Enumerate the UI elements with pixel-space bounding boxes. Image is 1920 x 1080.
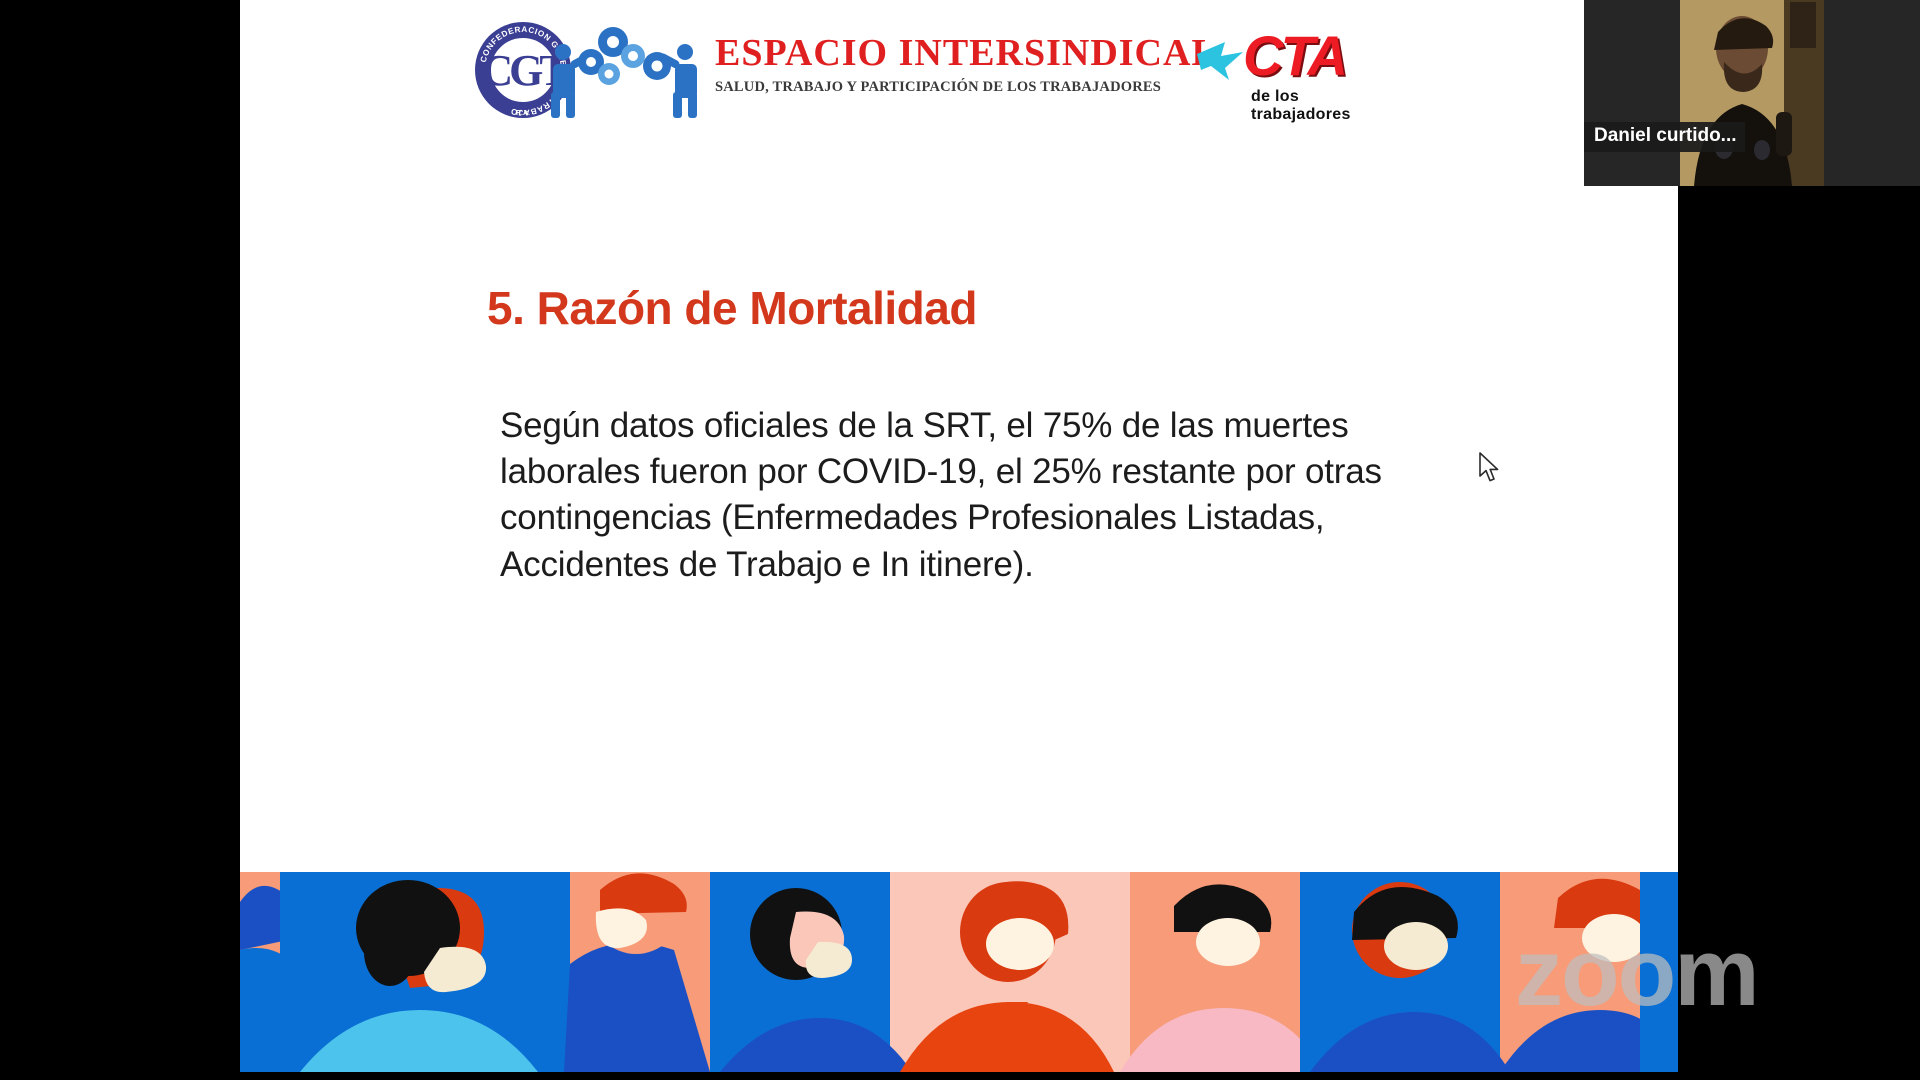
espacio-subtitle: SALUD, TRABAJO Y PARTICIPACIÓN DE LOS TR… (715, 79, 1215, 96)
participant-video-tile[interactable]: Daniel curtido... (1584, 0, 1920, 186)
espacio-text-block: ESPACIO INTERSINDICAL SALUD, TRABAJO Y P… (715, 34, 1215, 96)
slide-footer-illustration (240, 872, 1678, 1072)
slide-logo-row: CONFEDERACION GENERAL DEL TRABAJO CGT R.… (240, 0, 1678, 140)
espacio-title: ESPACIO INTERSINDICAL (715, 34, 1215, 72)
gears-and-people-icon (535, 22, 715, 118)
participant-webcam-image-icon (1680, 0, 1824, 186)
masked-people-illustration-icon (240, 872, 1678, 1072)
participant-video-stream (1680, 0, 1824, 186)
shared-screen-slide: CONFEDERACION GENERAL DEL TRABAJO CGT R.… (240, 0, 1678, 1072)
slide-body-text: Según datos oficiales de la SRT, el 75% … (500, 403, 1435, 588)
participant-name-label: Daniel curtido... (1584, 122, 1745, 152)
slide-title: 5. Razón de Mortalidad (487, 281, 977, 335)
zoom-meeting-window: CONFEDERACION GENERAL DEL TRABAJO CGT R.… (0, 0, 1920, 1080)
cta-wordmark: CTA (1243, 28, 1345, 84)
espacio-intersindical-logo: ESPACIO INTERSINDICAL SALUD, TRABAJO Y P… (535, 16, 1215, 124)
cta-subtitle: de los trabajadores (1251, 88, 1395, 124)
cta-logo: CTA de los trabajadores (1195, 28, 1395, 114)
